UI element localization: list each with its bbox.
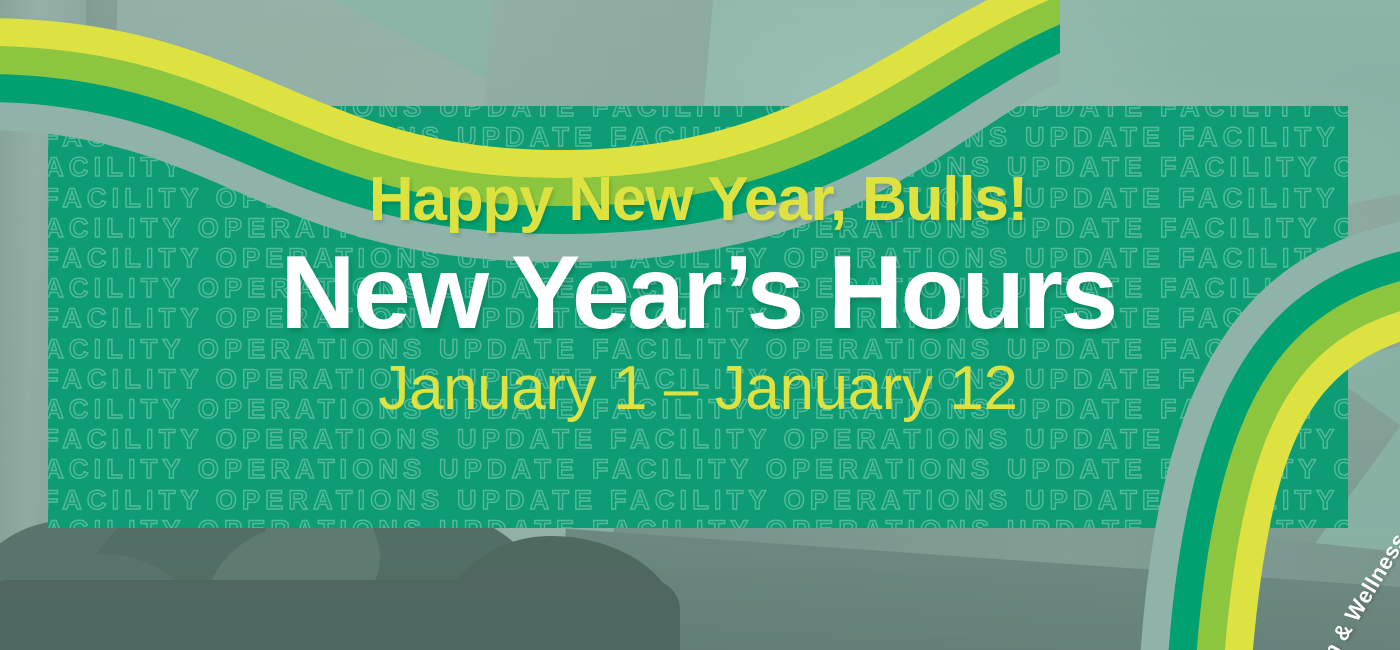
banner-graphic: FACILITY OPERATIONS UPDATE FACILITY OPER… xyxy=(0,0,1400,650)
date-range: January 1 – January 12 xyxy=(378,356,1017,422)
eyebrow-text: Happy New Year, Bulls! xyxy=(369,168,1027,232)
headline-block: Happy New Year, Bulls! New Year’s Hours … xyxy=(48,106,1348,528)
page-title: New Year’s Hours xyxy=(280,240,1115,346)
